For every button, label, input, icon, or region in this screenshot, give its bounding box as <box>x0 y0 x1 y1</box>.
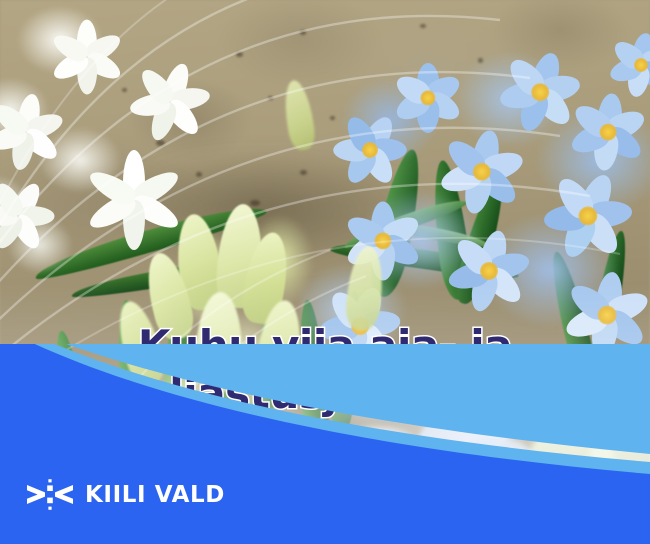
kiili-dragonfly-emblem-icon <box>26 476 74 514</box>
white-flower <box>0 178 56 254</box>
blue-flower <box>566 90 650 174</box>
soil-speckle <box>300 30 306 35</box>
blue-flower <box>606 30 650 100</box>
soil-speckle <box>268 96 273 100</box>
soil-speckle <box>420 24 426 28</box>
white-flower <box>0 92 66 172</box>
wave-decoration <box>0 344 650 544</box>
blue-flower <box>540 168 636 264</box>
soil-speckle <box>236 52 243 57</box>
kiili-vald-info-banner: Kuhu viia aia- ja haljastusjäätmed? KIIL… <box>0 0 650 544</box>
blue-flower <box>436 126 528 218</box>
kiili-vald-logo[interactable]: KIILI VALD <box>26 476 225 514</box>
logo-text: KIILI VALD <box>85 484 225 507</box>
white-flower <box>128 60 212 144</box>
blue-flower <box>330 110 410 190</box>
blue-flower <box>444 226 534 316</box>
white-flower <box>48 18 126 96</box>
